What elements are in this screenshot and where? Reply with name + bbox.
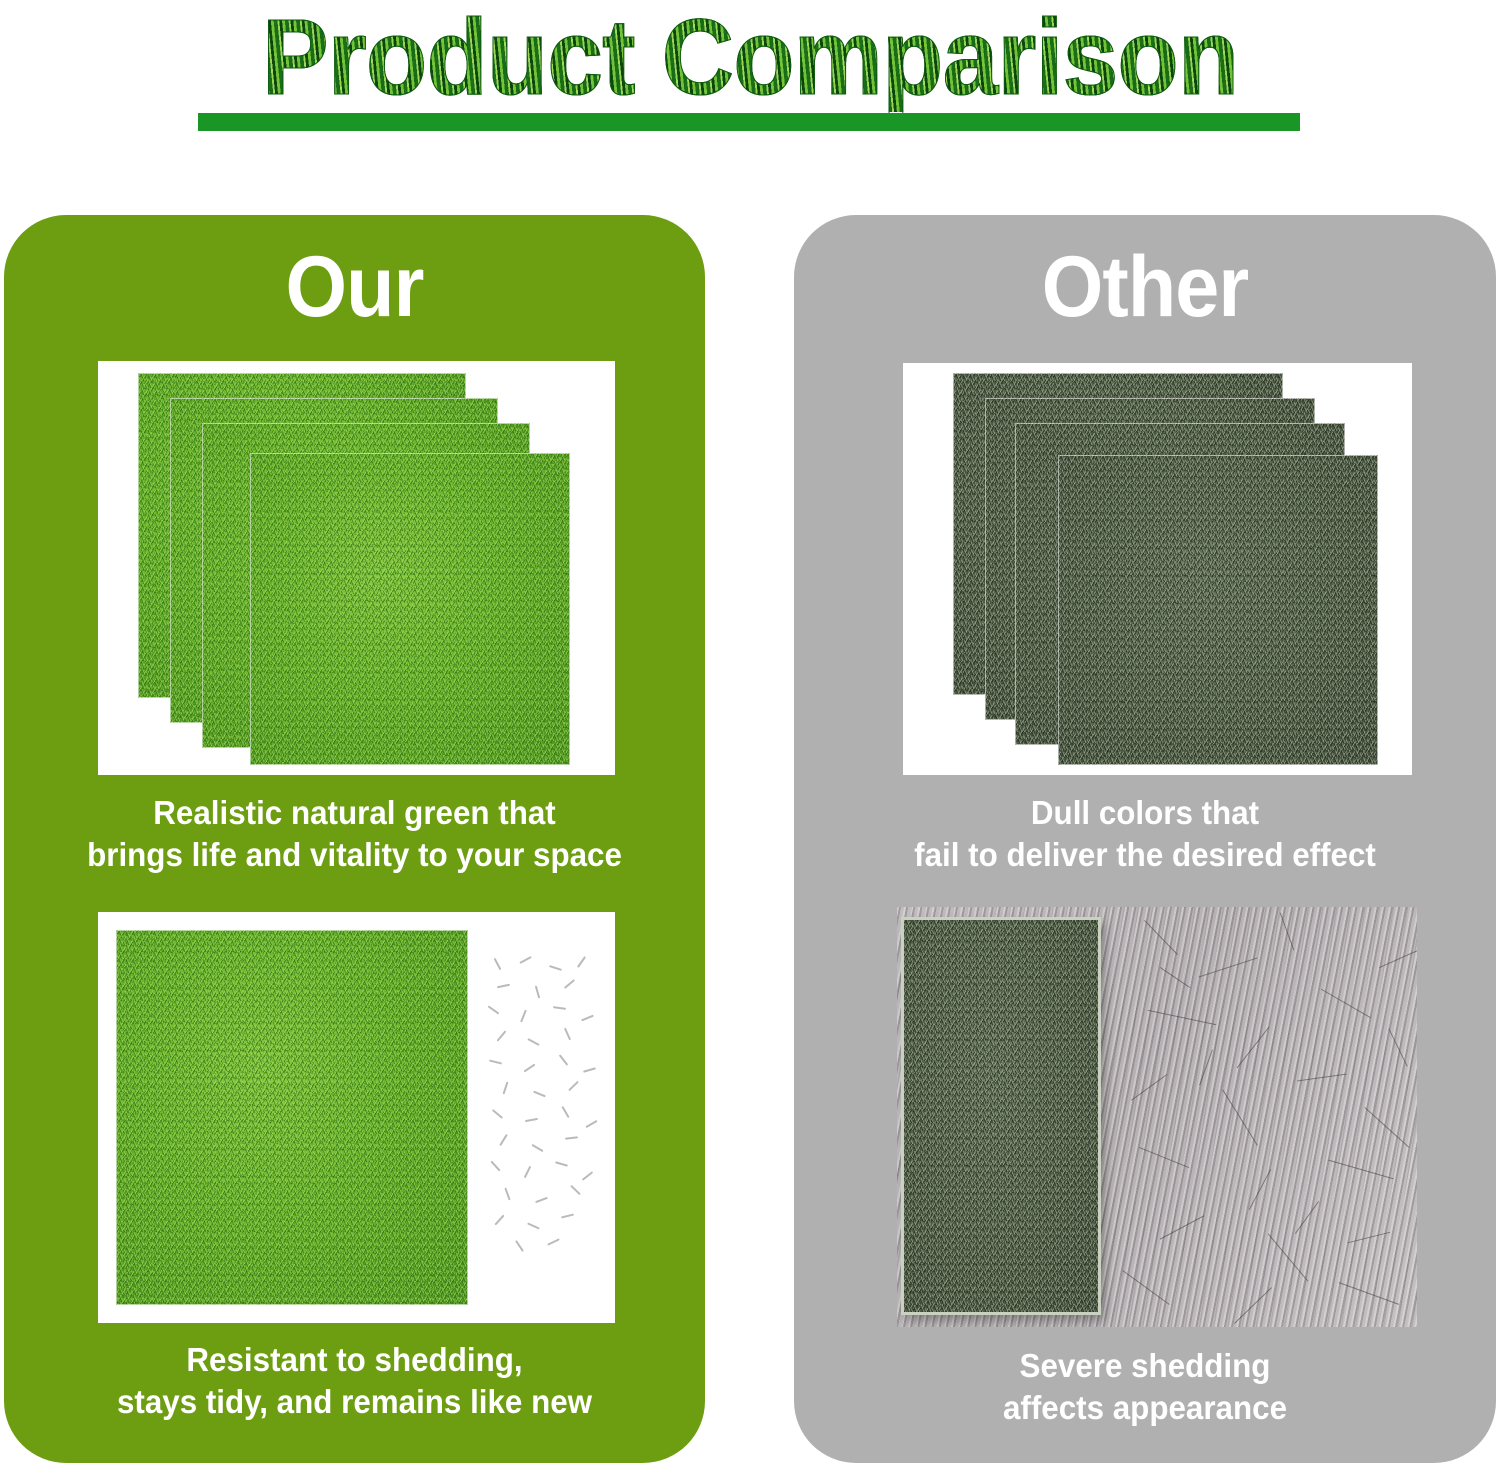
other-four-mats-photo [903, 363, 1412, 775]
grass-mat [116, 930, 468, 1305]
page-header: Product Comparison [0, 0, 1500, 200]
our-product-panel: Our Realistic natural green that brings … [4, 215, 705, 1463]
other-shedding-photo [897, 907, 1417, 1327]
our-panel-heading: Our [32, 241, 677, 333]
our-bottom-caption: Resistant to shedding, stays tidy, and r… [22, 1339, 688, 1423]
other-bottom-caption: Severe shedding affects appearance [812, 1345, 1479, 1429]
title-underline-bar [198, 113, 1300, 131]
grass-mat-edge [901, 917, 1101, 1315]
grass-mat [250, 453, 570, 765]
other-panel-heading: Other [822, 241, 1468, 333]
other-product-panel: Other Dull colors that fail to deliver t… [794, 215, 1496, 1463]
our-four-mats-photo [98, 361, 615, 775]
other-top-caption: Dull colors that fail to deliver the des… [812, 792, 1479, 876]
loose-fiber-group [483, 957, 603, 1262]
our-shedding-photo [98, 912, 615, 1323]
page-title: Product Comparison [53, 2, 1448, 112]
our-top-caption: Realistic natural green that brings life… [22, 792, 688, 876]
grass-mat [1058, 455, 1378, 765]
